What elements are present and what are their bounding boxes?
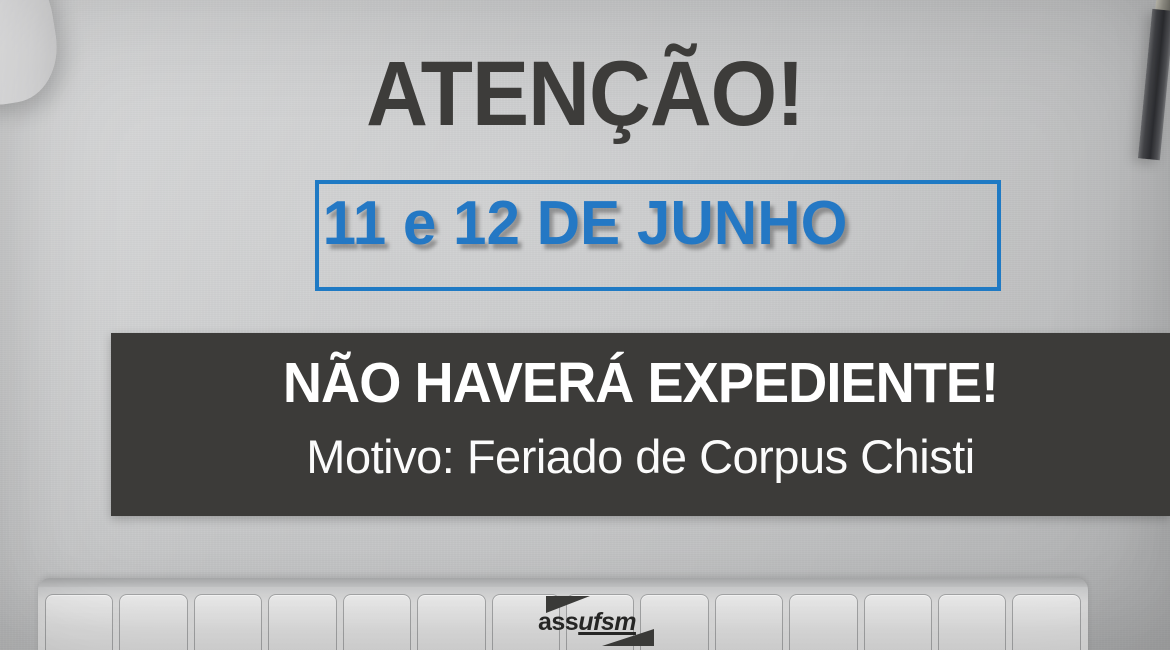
- notice-banner-title: NÃO HAVERÁ EXPEDIENTE!: [137, 355, 1143, 412]
- poster-canvas: ATENÇÃO! 11 e 12 DE JUNHO NÃO HAVERÁ EXP…: [0, 0, 1170, 650]
- logo-wordmark-italic: ufsm: [578, 608, 636, 636]
- notice-banner-subtitle: Motivo: Feriado de Corpus Chisti: [111, 433, 1170, 480]
- date-text: 11 e 12 DE JUNHO: [18, 193, 1153, 255]
- assufsm-logo: assufsm: [536, 596, 658, 648]
- page-title: ATENÇÃO!: [41, 48, 1129, 140]
- notice-banner: NÃO HAVERÁ EXPEDIENTE! Motivo: Feriado d…: [111, 333, 1170, 516]
- logo-wordmark-regular: ass: [538, 608, 578, 636]
- logo-wordmark: assufsm: [538, 608, 636, 637]
